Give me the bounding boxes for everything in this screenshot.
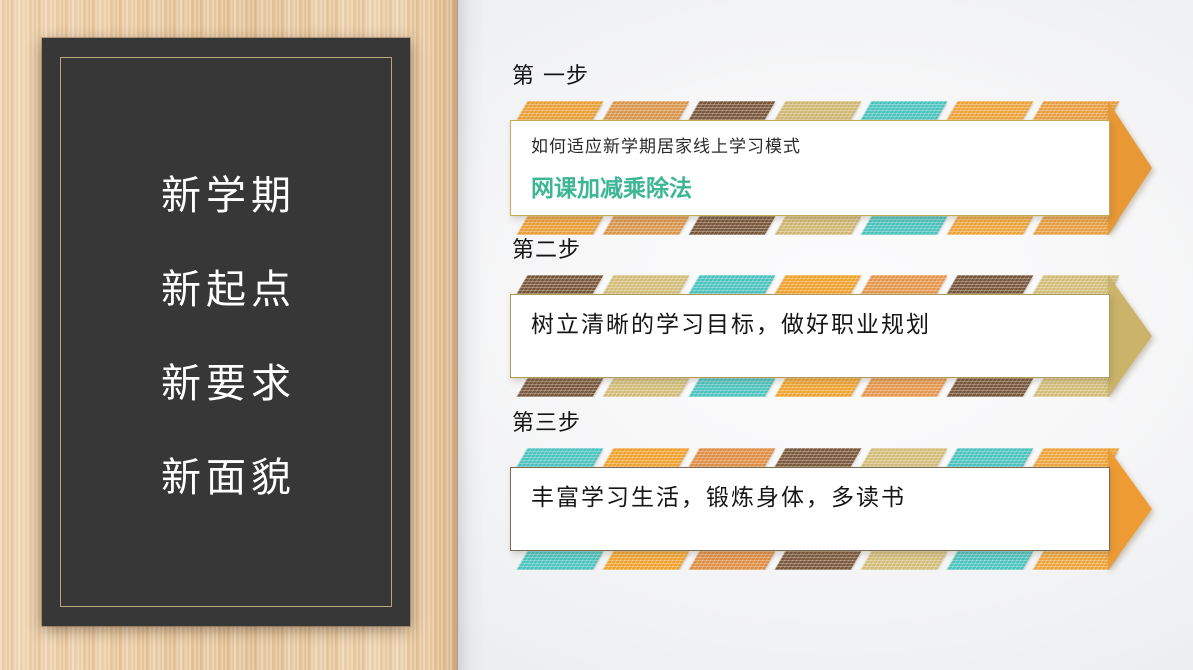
step-banner-1[interactable]: 如何适应新学期居家线上学习模式 网课加减乘除法 xyxy=(510,101,1122,235)
stripe-chevron xyxy=(603,101,690,120)
step-line-1-1: 如何适应新学期居家线上学习模式 xyxy=(531,135,1089,161)
stripe-chevron xyxy=(603,275,690,294)
stripe-chevron xyxy=(775,101,862,120)
stripe-chevron xyxy=(775,275,862,294)
stripe-chevron xyxy=(517,448,604,467)
stripe-chevron xyxy=(1033,551,1120,570)
stripe-chevron xyxy=(947,448,1034,467)
wood-edge-shadow xyxy=(444,0,458,670)
stripe-chevron xyxy=(861,216,948,235)
stripe-chevron xyxy=(947,275,1034,294)
arrow-tip-3 xyxy=(1108,448,1152,570)
stripe-chevron xyxy=(1033,101,1120,120)
board-line-3: 新要求 xyxy=(156,364,296,404)
stripe-chevron xyxy=(861,378,948,397)
stripe-chevron xyxy=(603,216,690,235)
board-line-2: 新起点 xyxy=(156,270,296,310)
step-title-1: 第 一步 xyxy=(512,66,1122,88)
chalkboard-text-group: 新学期 新起点 新要求 新面貌 xyxy=(42,38,410,626)
stripe-chevron xyxy=(603,448,690,467)
stripe-chevron xyxy=(689,275,776,294)
stripe-chevron xyxy=(517,216,604,235)
stripe-chevron xyxy=(689,448,776,467)
step-section-3: 第三步 丰富学习生活，锻炼身体，多读书 xyxy=(510,413,1122,570)
stripes-top-3 xyxy=(508,448,1120,467)
stripes-top-1 xyxy=(508,101,1120,120)
stripes-top-2 xyxy=(508,275,1120,294)
stripes-bottom-2 xyxy=(508,378,1120,397)
stripe-chevron xyxy=(775,551,862,570)
steps-panel: 第 一步 如何适应新学期居家线上学习模式 网课加减乘除法 第二步 xyxy=(458,0,1193,670)
stripe-chevron xyxy=(689,551,776,570)
step-title-3: 第三步 xyxy=(512,413,1122,435)
stripe-chevron xyxy=(947,378,1034,397)
stripe-chevron xyxy=(861,275,948,294)
step-section-2: 第二步 树立清晰的学习目标，做好职业规划 xyxy=(510,240,1122,397)
step-banner-3[interactable]: 丰富学习生活，锻炼身体，多读书 xyxy=(510,448,1122,570)
stripe-chevron xyxy=(947,216,1034,235)
stripe-chevron xyxy=(517,275,604,294)
stripe-chevron xyxy=(775,216,862,235)
stripe-chevron xyxy=(1033,275,1120,294)
step-line-2-1: 树立清晰的学习目标，做好职业规划 xyxy=(531,309,1089,341)
stripe-chevron xyxy=(689,101,776,120)
stripe-chevron xyxy=(1033,216,1120,235)
stripe-chevron xyxy=(517,551,604,570)
slide-canvas: 新学期 新起点 新要求 新面貌 第 一步 如何适应新学期居家线上学习模式 网课加… xyxy=(0,0,1193,670)
step-line-1-2: 网课加减乘除法 xyxy=(531,175,1089,204)
stripe-chevron xyxy=(861,101,948,120)
stripe-chevron xyxy=(861,551,948,570)
stripe-chevron xyxy=(1033,448,1120,467)
step-box-1: 如何适应新学期居家线上学习模式 网课加减乘除法 xyxy=(510,120,1110,216)
step-section-1: 第 一步 如何适应新学期居家线上学习模式 网课加减乘除法 xyxy=(510,66,1122,235)
stripe-chevron xyxy=(689,378,776,397)
stripe-chevron xyxy=(861,448,948,467)
wood-board-panel: 新学期 新起点 新要求 新面貌 xyxy=(0,0,458,670)
stripe-chevron xyxy=(947,101,1034,120)
board-line-1: 新学期 xyxy=(156,176,296,216)
chalkboard: 新学期 新起点 新要求 新面貌 xyxy=(42,38,410,626)
arrow-tip-1 xyxy=(1108,101,1152,235)
step-banner-2[interactable]: 树立清晰的学习目标，做好职业规划 xyxy=(510,275,1122,397)
stripe-chevron xyxy=(603,551,690,570)
panel-inner-shadow xyxy=(458,0,484,670)
stripes-bottom-1 xyxy=(508,216,1120,235)
step-box-3: 丰富学习生活，锻炼身体，多读书 xyxy=(510,467,1110,551)
stripe-chevron xyxy=(775,378,862,397)
step-box-2: 树立清晰的学习目标，做好职业规划 xyxy=(510,294,1110,378)
step-line-3-1: 丰富学习生活，锻炼身体，多读书 xyxy=(531,482,1089,514)
board-line-4: 新面貌 xyxy=(156,458,296,498)
stripe-chevron xyxy=(775,448,862,467)
stripe-chevron xyxy=(689,216,776,235)
stripe-chevron xyxy=(603,378,690,397)
stripe-chevron xyxy=(947,551,1034,570)
stripe-chevron xyxy=(517,378,604,397)
step-title-2: 第二步 xyxy=(512,240,1122,262)
stripe-chevron xyxy=(517,101,604,120)
stripes-bottom-3 xyxy=(508,551,1120,570)
stripe-chevron xyxy=(1033,378,1120,397)
arrow-tip-2 xyxy=(1108,275,1152,397)
